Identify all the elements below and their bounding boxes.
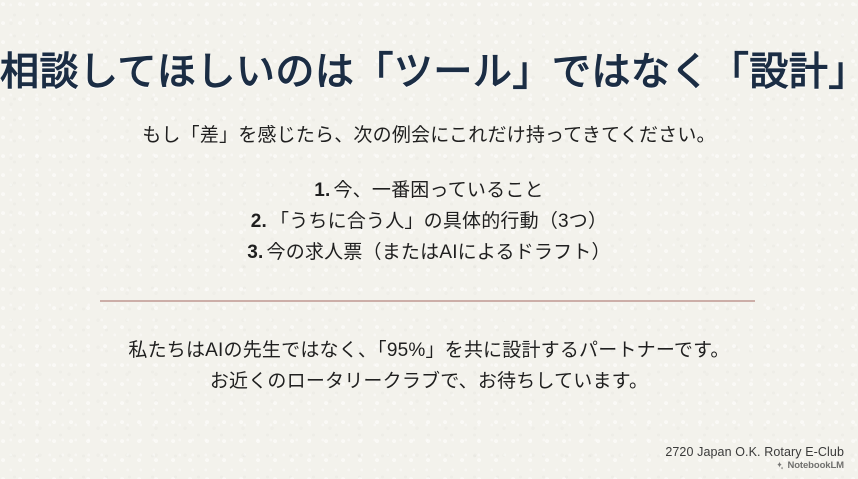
list-item-label: 今の求人票（またはAIによるドラフト） — [267, 242, 611, 263]
notebooklm-watermark: NotebookLM — [665, 460, 844, 471]
closing-line: 私たちはAIの先生ではなく、「95%」を共に設計するパートナーです。 — [0, 336, 858, 367]
section-divider — [100, 300, 755, 302]
footer: 2720 Japan O.K. Rotary E-Club NotebookLM — [665, 445, 844, 471]
list-item-label: 「うちに合う人」の具体的行動（3つ） — [270, 211, 607, 232]
title-container: 相談してほしいのは「ツール」ではなく「設計」 — [0, 24, 858, 122]
list-item-number: 2. — [251, 211, 267, 232]
list-item-label: 今、一番困っていること — [333, 180, 543, 201]
page-title: 相談してほしいのは「ツール」ではなく「設計」 — [0, 50, 858, 96]
slide-canvas: 相談してほしいのは「ツール」ではなく「設計」 もし「差」を感じたら、次の例会にこ… — [0, 0, 858, 479]
instruction-list: 1.今、一番困っていること 2.「うちに合う人」の具体的行動（3つ） 3.今の求… — [0, 176, 858, 268]
spark-icon — [775, 461, 784, 470]
list-item: 2.「うちに合う人」の具体的行動（3つ） — [0, 207, 858, 238]
list-item: 1.今、一番困っていること — [0, 176, 858, 207]
list-item-number: 1. — [314, 180, 330, 201]
list-item-number: 3. — [247, 242, 263, 263]
watermark-label: NotebookLM — [787, 460, 844, 471]
lead-text: もし「差」を感じたら、次の例会にこれだけ持ってきてください。 — [0, 122, 858, 151]
closing-paragraph: 私たちはAIの先生ではなく、「95%」を共に設計するパートナーです。 お近くのロ… — [0, 336, 858, 398]
footer-organization: 2720 Japan O.K. Rotary E-Club — [665, 445, 844, 461]
list-item: 3.今の求人票（またはAIによるドラフト） — [0, 238, 858, 269]
closing-line: お近くのロータリークラブで、お待ちしています。 — [0, 367, 858, 398]
